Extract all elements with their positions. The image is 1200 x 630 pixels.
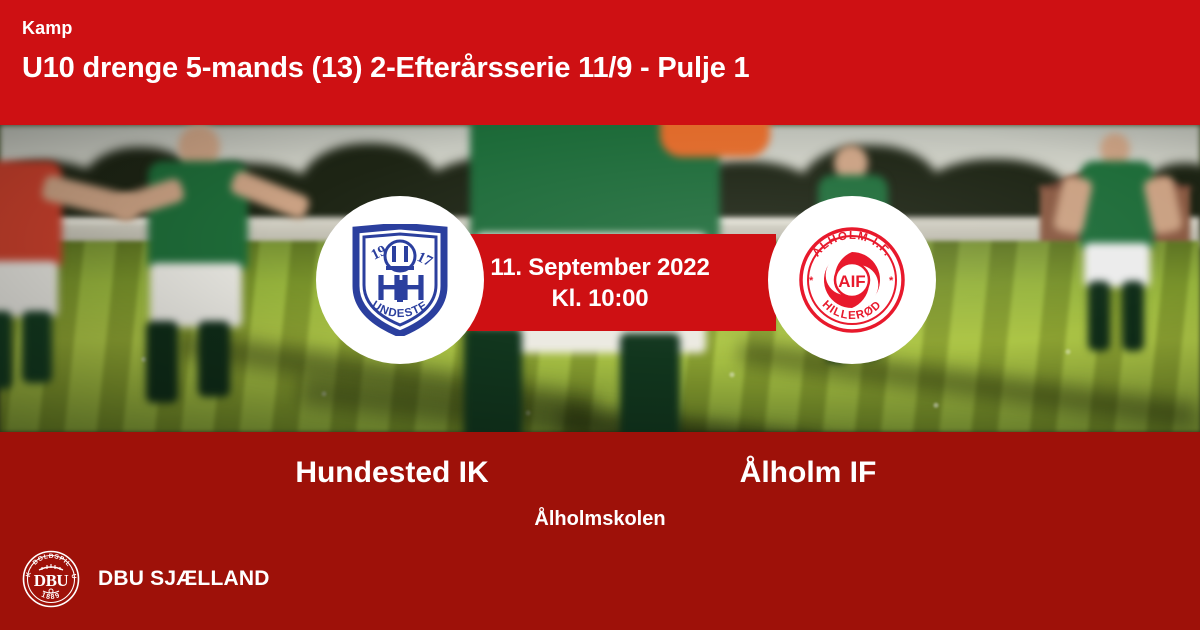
alholm-if-badge-icon: AIF ÅLHOLM I.F. HILLERØD * * [798,226,906,334]
match-time: Kl. 10:00 [552,283,649,314]
away-team-crest[interactable]: AIF ÅLHOLM I.F. HILLERØD * * [768,196,936,364]
header-kicker: Kamp [22,18,1200,38]
svg-text:DBU: DBU [34,571,69,590]
poster-header: Kamp U10 drenge 5-mands (13) 2-Efterårss… [0,0,1200,125]
poster-bottom: Hundested IK Ålholm IF Ålholmskolen DANS… [0,432,1200,630]
page-title: U10 drenge 5-mands (13) 2-Efterårsserie … [22,51,1200,85]
footer: DANSK · BOLDSPIL · UNION DBU 1889 DBU SJ… [22,550,270,608]
svg-text:*: * [809,275,814,287]
hundested-ik-shield-icon: 19 17 HH HUNDESTED [348,224,452,336]
footer-org-name: DBU SJÆLLAND [98,567,270,591]
dbu-logo-icon: DANSK · BOLDSPIL · UNION DBU 1889 [22,550,80,608]
match-date: 11. September 2022 [490,252,709,283]
away-team-name: Ålholm IF [616,456,1000,490]
venue-name: Ålholmskolen [0,508,1200,531]
home-team-crest[interactable]: 19 17 HH HUNDESTED [316,196,484,364]
home-team-name: Hundested IK [200,456,584,490]
svg-text:*: * [889,275,894,287]
match-photo: 11. September 2022 Kl. 10:00 19 17 HH [0,125,1200,432]
match-poster: Kamp U10 drenge 5-mands (13) 2-Efterårss… [0,0,1200,630]
svg-text:AIF: AIF [838,272,865,291]
